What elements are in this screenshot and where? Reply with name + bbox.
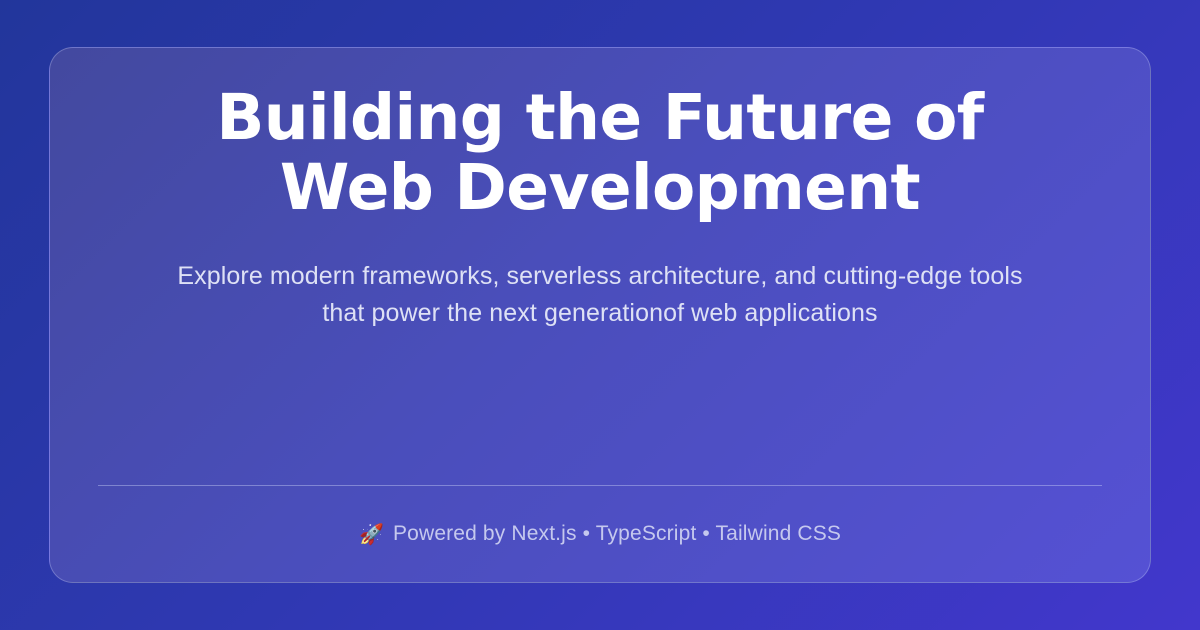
page-subtitle: Explore modern frameworks, serverless ar… [160, 223, 1040, 332]
footer-credits-label: Powered by Next.js • TypeScript • Tailwi… [393, 522, 841, 546]
hero-card: Building the Future of Web Development E… [49, 47, 1151, 583]
hero-card-content: Building the Future of Web Development E… [50, 48, 1150, 582]
footer-credits: 🚀 Powered by Next.js • TypeScript • Tail… [359, 486, 841, 582]
rocket-icon: 🚀 [359, 525, 384, 545]
og-image-canvas: Building the Future of Web Development E… [0, 0, 1200, 630]
page-title: Building the Future of Web Development [170, 48, 1030, 223]
